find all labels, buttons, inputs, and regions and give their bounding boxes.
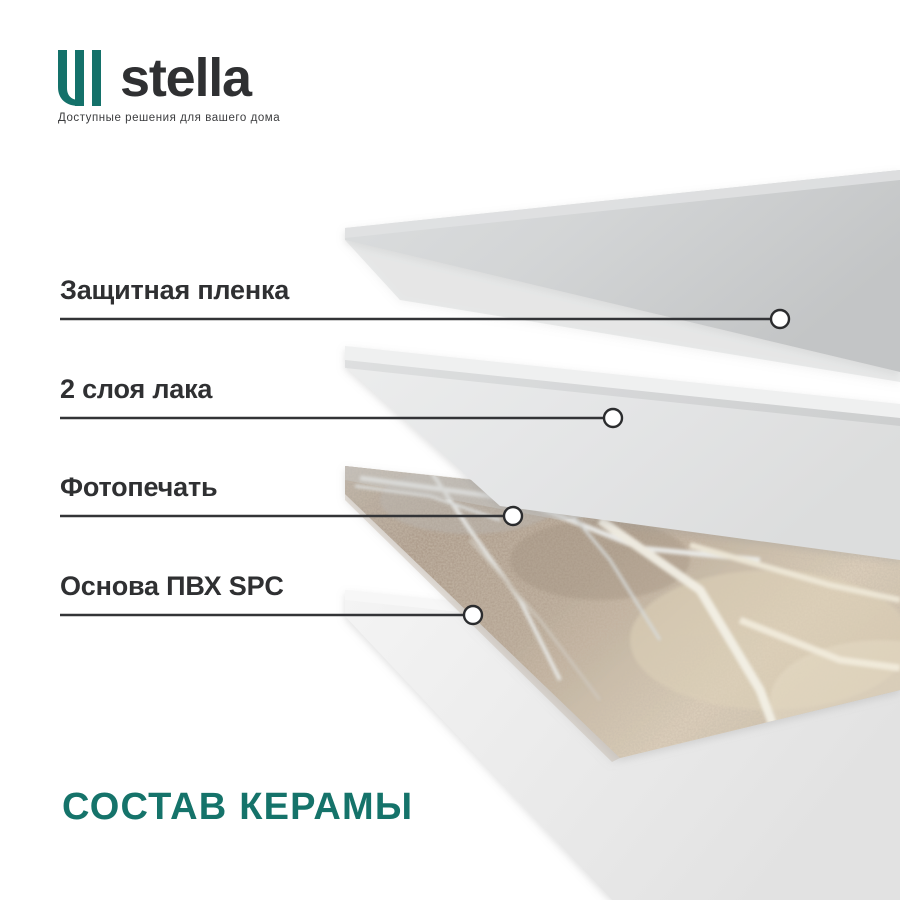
callout-label-spc-base: Основа ПВХ SPC [60, 570, 284, 602]
callout-dot-2[interactable] [604, 409, 622, 427]
callout-dot-1[interactable] [771, 310, 789, 328]
callout-label-protective-film: Защитная пленка [60, 274, 289, 306]
callout-text-4: Основа ПВХ SPC [60, 570, 284, 602]
callout-label-lacquer: 2 слоя лака [60, 373, 212, 405]
callout-text-1: Защитная пленка [60, 274, 289, 306]
callout-label-photoprint: Фотопечать [60, 471, 217, 503]
callout-text-3: Фотопечать [60, 471, 217, 503]
page-title: СОСТАВ КЕРАМЫ [62, 786, 413, 829]
callout-dot-3[interactable] [504, 507, 522, 525]
callout-dot-4[interactable] [464, 606, 482, 624]
callout-text-2: 2 слоя лака [60, 373, 212, 405]
exploded-layer-diagram [0, 0, 900, 900]
layer-shape-protective-film [345, 170, 900, 382]
infographic-page: stella Доступные решения для вашего дома [0, 0, 900, 900]
